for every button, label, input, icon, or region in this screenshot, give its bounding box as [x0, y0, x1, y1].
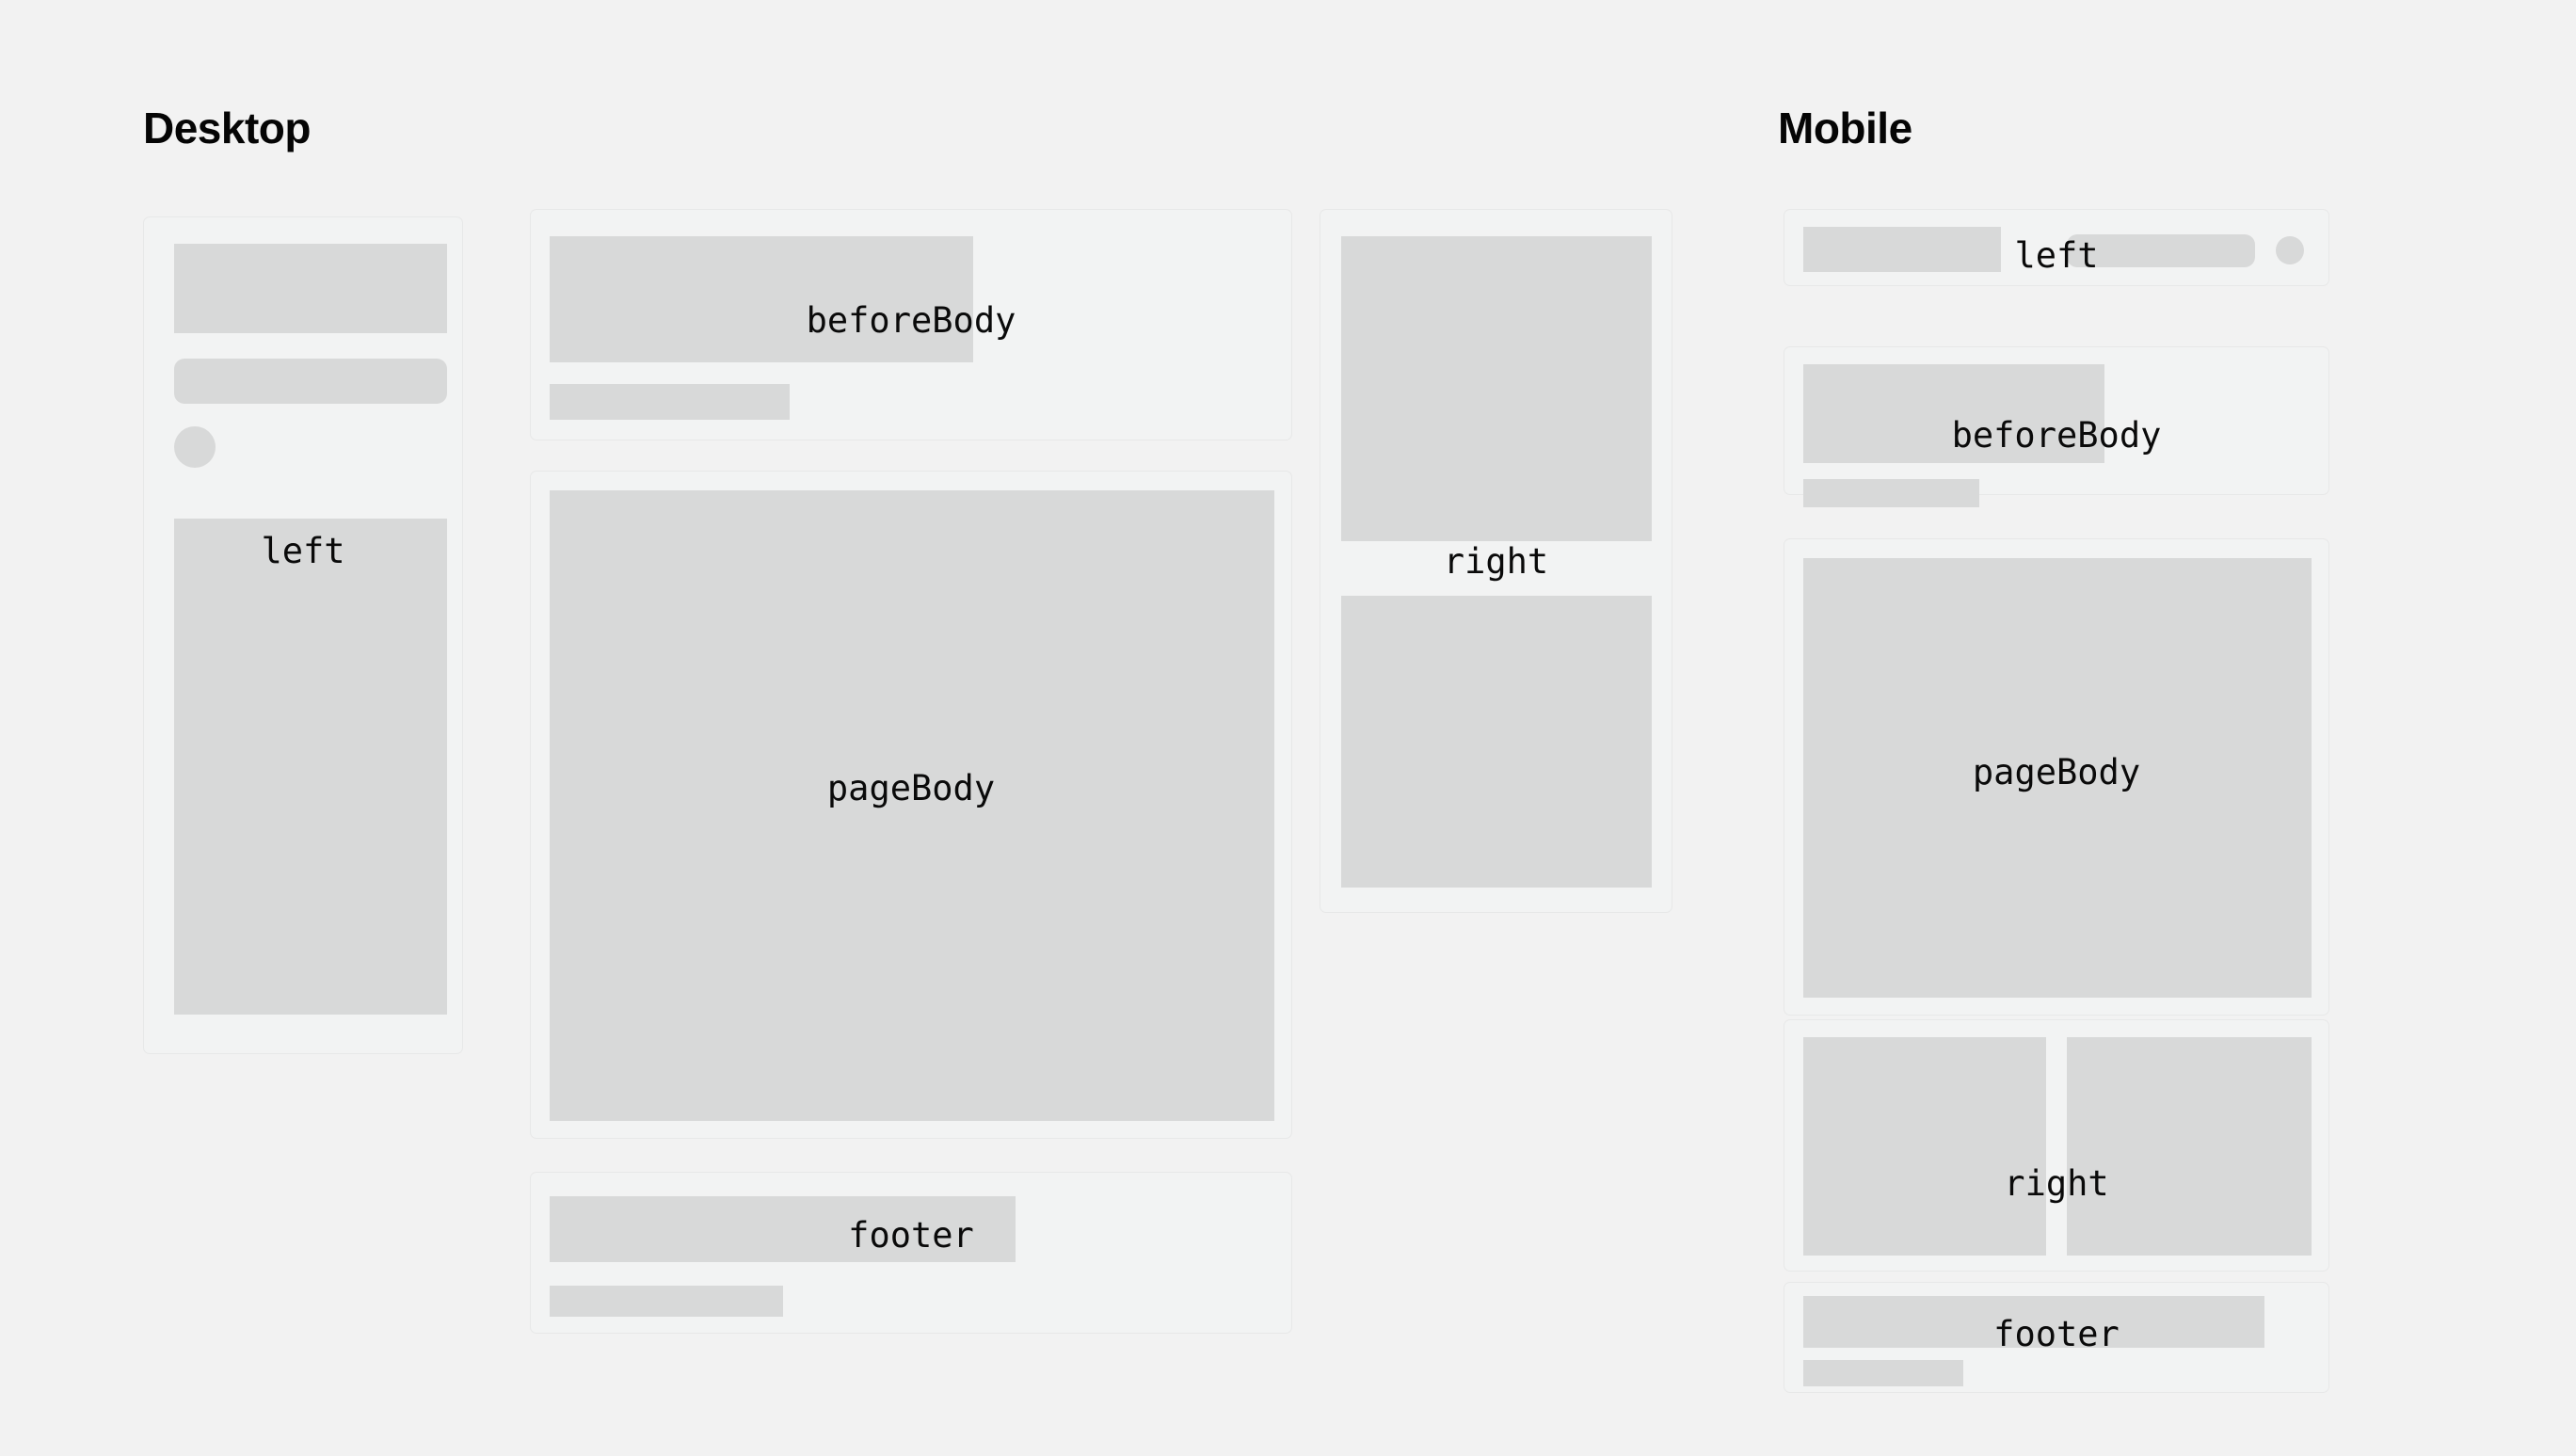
- mobile-region-footer[interactable]: [1784, 1282, 2329, 1393]
- desktop-region-pagebody[interactable]: [530, 471, 1292, 1139]
- skeleton-block: [1803, 479, 1979, 507]
- skeleton-block: [550, 1286, 783, 1317]
- mobile-region-pagebody[interactable]: [1784, 538, 2329, 1016]
- skeleton-block: [550, 1196, 1016, 1262]
- skeleton-block: [550, 236, 973, 362]
- skeleton-block: [1341, 596, 1652, 888]
- skeleton-block: [1341, 236, 1652, 541]
- mobile-region-left[interactable]: [1784, 209, 2329, 286]
- desktop-region-beforebody[interactable]: [530, 209, 1292, 440]
- skeleton-block: [174, 244, 447, 333]
- skeleton-block: [1803, 1037, 2046, 1256]
- skeleton-block: [174, 359, 447, 404]
- desktop-region-left[interactable]: [143, 216, 463, 1054]
- skeleton-block: [1803, 558, 2312, 998]
- mobile-section-title: Mobile: [1778, 106, 1912, 150]
- skeleton-avatar-circle: [2276, 236, 2304, 264]
- desktop-section-title: Desktop: [143, 106, 311, 150]
- skeleton-block: [1803, 1360, 1963, 1386]
- skeleton-avatar-circle: [174, 426, 216, 468]
- mobile-region-right[interactable]: [1784, 1019, 2329, 1272]
- skeleton-block: [1803, 227, 2001, 272]
- desktop-region-footer[interactable]: [530, 1172, 1292, 1334]
- skeleton-block: [2067, 234, 2255, 267]
- skeleton-block: [2067, 1037, 2312, 1256]
- skeleton-block: [1803, 364, 2104, 463]
- skeleton-block: [550, 490, 1274, 1121]
- skeleton-block: [174, 519, 447, 1015]
- skeleton-block: [550, 384, 790, 420]
- desktop-region-right[interactable]: [1320, 209, 1672, 913]
- mobile-region-beforebody[interactable]: [1784, 346, 2329, 495]
- skeleton-block: [1803, 1296, 2264, 1348]
